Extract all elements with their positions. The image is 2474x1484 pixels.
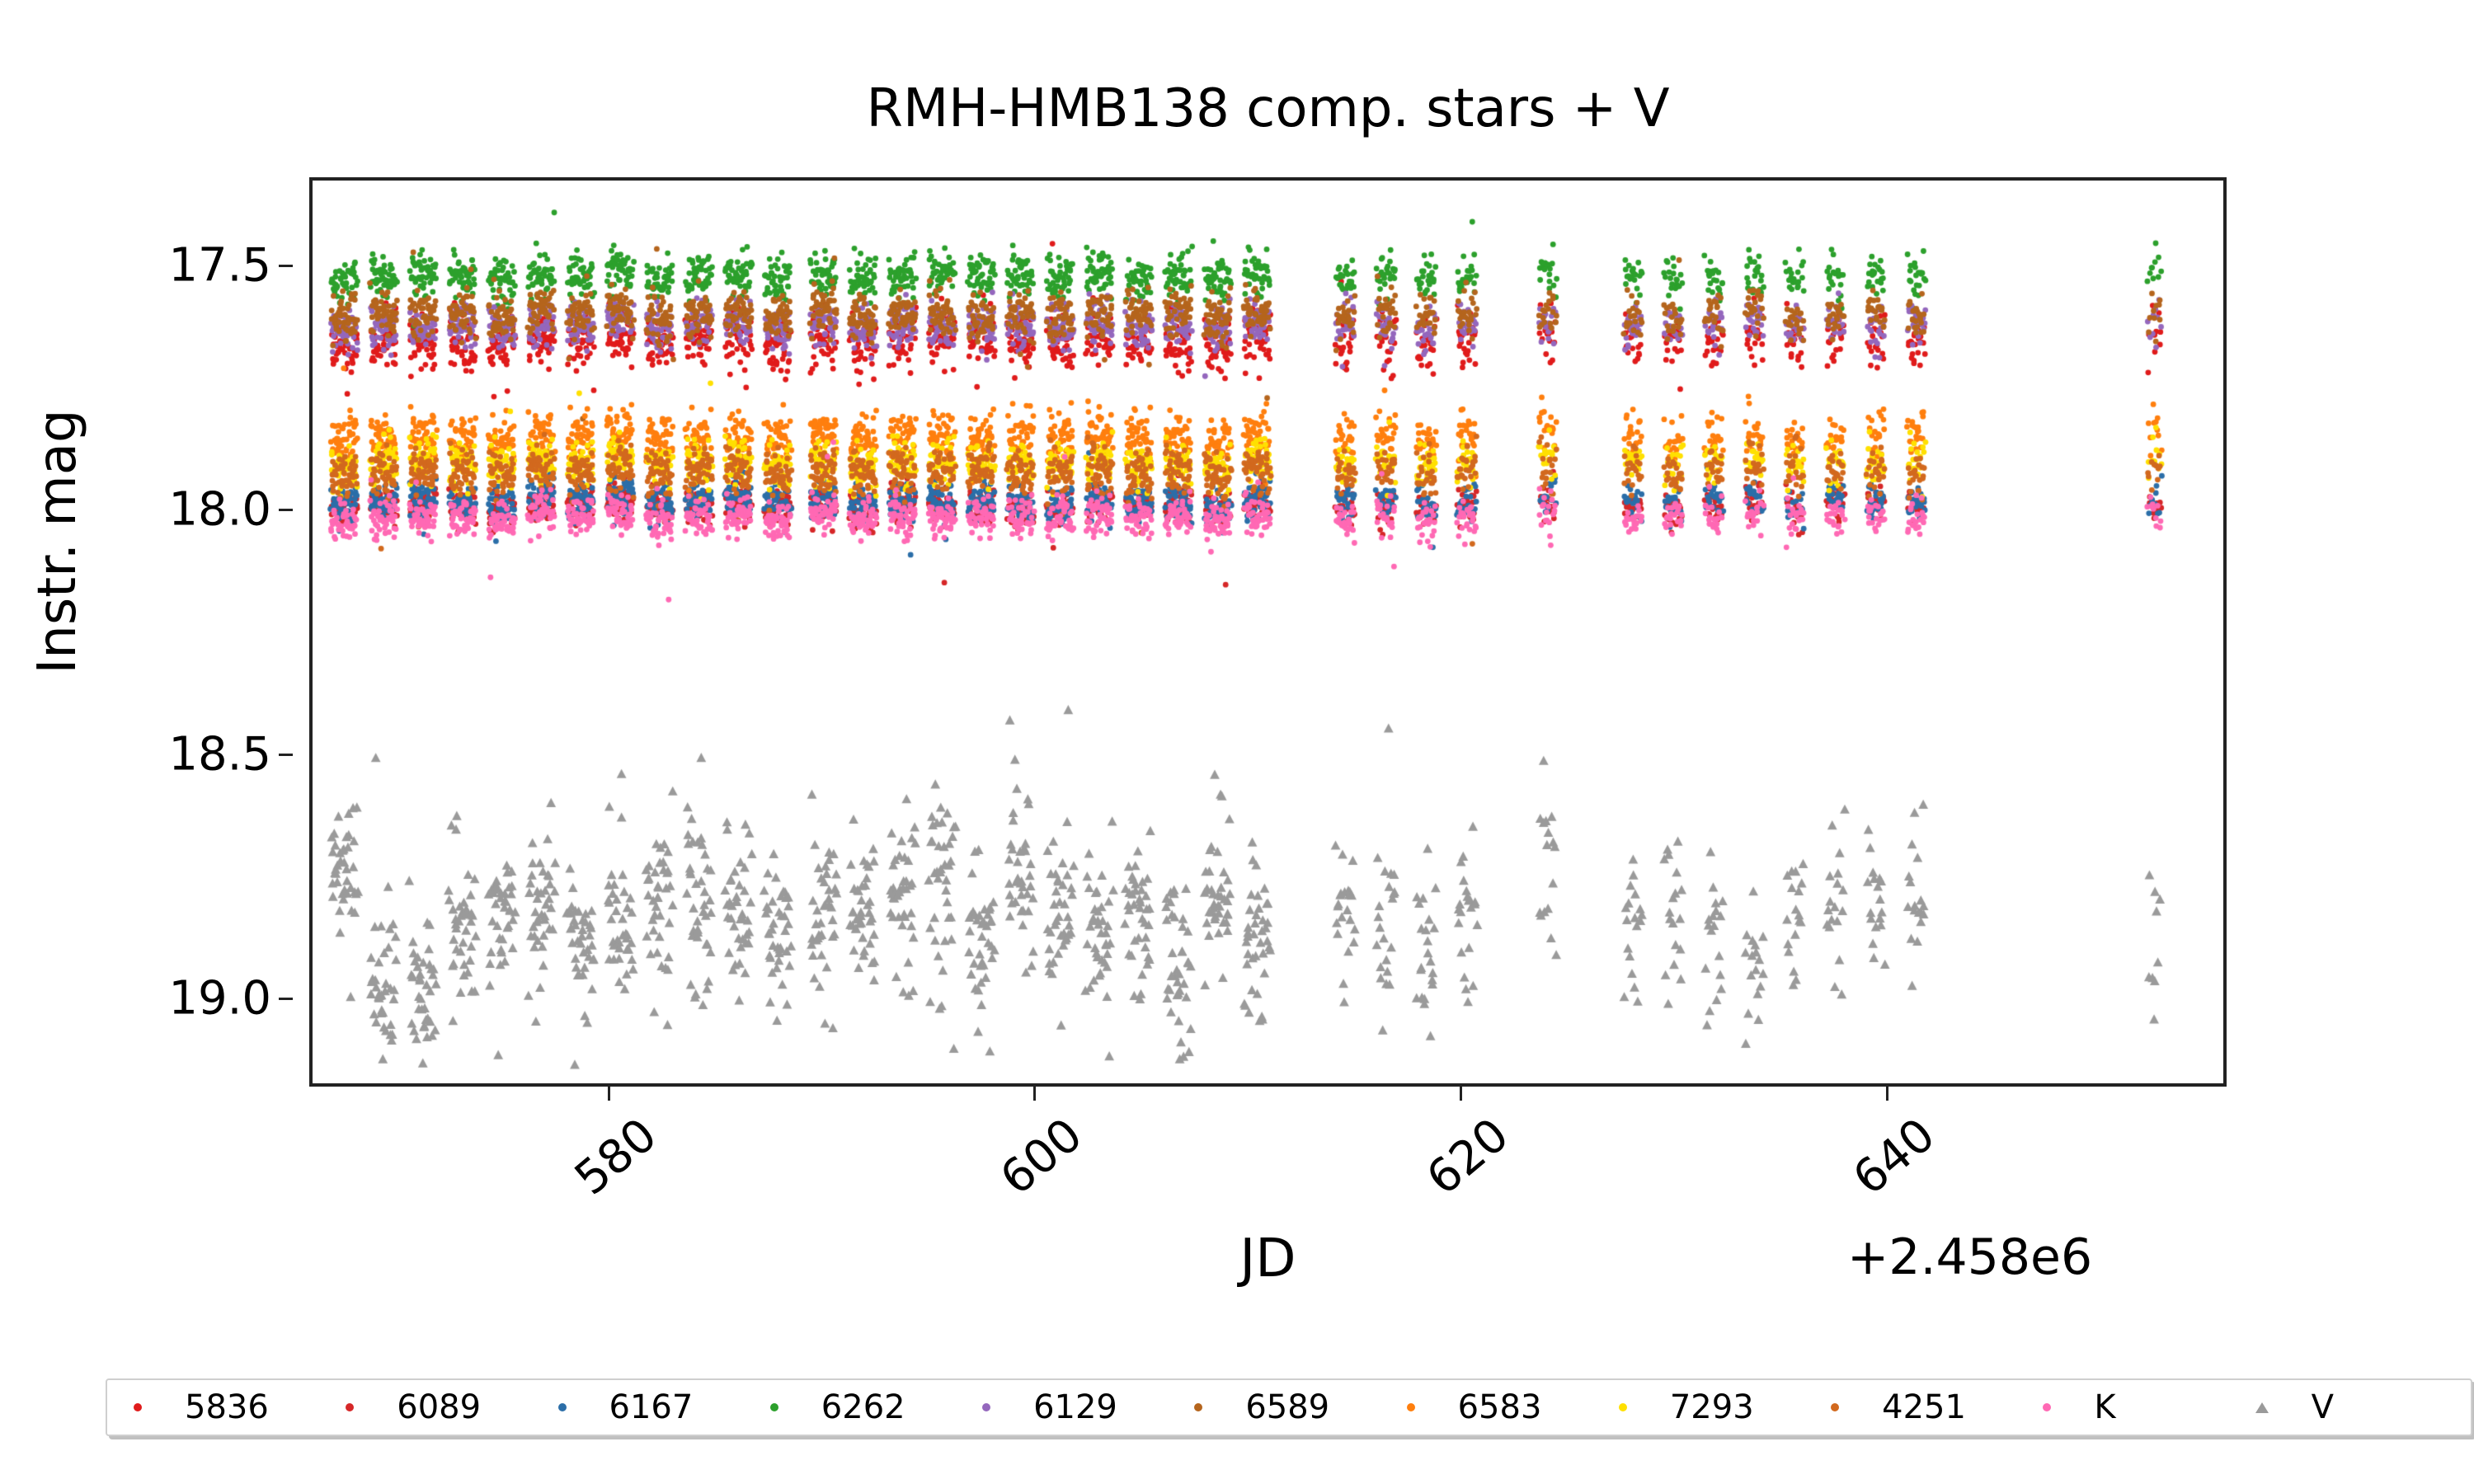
dot-marker-icon — [770, 1403, 778, 1411]
legend-label: 6583 — [1458, 1388, 1542, 1426]
legend-label: K — [2094, 1388, 2115, 1426]
x-tick-label: 580 — [565, 1108, 667, 1206]
legend-label: 6589 — [1245, 1388, 1329, 1426]
legend-entry-6583[interactable]: 6583 — [1395, 1388, 1607, 1426]
dot-marker-icon — [1194, 1403, 1202, 1411]
y-tick-mark — [279, 998, 293, 1000]
dot-marker-icon — [2043, 1403, 2051, 1411]
legend-entry-k[interactable]: K — [2031, 1388, 2243, 1426]
legend-label: 6167 — [609, 1388, 694, 1426]
dot-marker-icon — [1407, 1403, 1415, 1411]
plot-area — [309, 177, 2227, 1087]
legend-label: 4251 — [1882, 1388, 1966, 1426]
triangle-marker-icon — [2255, 1402, 2269, 1413]
legend-entry-4251[interactable]: 4251 — [1819, 1388, 2031, 1426]
legend-label: 6129 — [1033, 1388, 1117, 1426]
y-tick-label: 18.5 — [168, 727, 271, 781]
legend-label: 5836 — [185, 1388, 269, 1426]
x-tick-mark — [1886, 1087, 1888, 1101]
x-tick-label: 620 — [1417, 1108, 1519, 1206]
scatter-data-layer — [313, 181, 2227, 1087]
page-title: RMH-HMB138 comp. stars + V — [309, 82, 2227, 135]
y-tick-mark — [279, 754, 293, 756]
legend-entry-5836[interactable]: 5836 — [122, 1388, 334, 1426]
legend-entry-6129[interactable]: 6129 — [971, 1388, 1183, 1426]
y-tick-label: 19.0 — [168, 972, 271, 1026]
legend-entry-6262[interactable]: 6262 — [759, 1388, 971, 1426]
legend-label: 6089 — [397, 1388, 481, 1426]
legend-entry-6167[interactable]: 6167 — [547, 1388, 759, 1426]
x-tick-mark — [608, 1087, 610, 1101]
x-axis-title: JD — [309, 1228, 2227, 1289]
x-tick-label: 640 — [1843, 1108, 1945, 1206]
legend-entry-6589[interactable]: 6589 — [1183, 1388, 1395, 1426]
dot-marker-icon — [982, 1403, 990, 1411]
legend-entry-7293[interactable]: 7293 — [1607, 1388, 1819, 1426]
dot-marker-icon — [1619, 1403, 1627, 1411]
y-axis-title: Instr. mag — [27, 129, 88, 954]
dot-marker-icon — [134, 1403, 142, 1411]
y-tick-label: 18.0 — [168, 483, 271, 537]
y-tick-mark — [279, 265, 293, 267]
dot-marker-icon — [1831, 1403, 1839, 1411]
legend-entry-v[interactable]: V — [2244, 1388, 2456, 1426]
chart-legend[interactable]: 583660896167626261296589658372934251KV — [106, 1378, 2472, 1436]
x-tick-mark — [1033, 1087, 1036, 1101]
x-tick-label: 600 — [990, 1108, 1093, 1206]
dot-marker-icon — [558, 1403, 567, 1411]
legend-label: 6262 — [821, 1388, 905, 1426]
x-axis-tick-labels: 580600620640 — [309, 1087, 2227, 1252]
legend-label: 7293 — [1670, 1388, 1754, 1426]
legend-entry-6089[interactable]: 6089 — [334, 1388, 546, 1426]
x-tick-mark — [1460, 1087, 1462, 1101]
figure-canvas: RMH-HMB138 comp. stars + V 17.518.018.51… — [0, 0, 2474, 1484]
dot-marker-icon — [346, 1403, 354, 1411]
y-tick-label: 17.5 — [168, 238, 271, 292]
legend-label: V — [2312, 1388, 2334, 1426]
y-tick-mark — [279, 509, 293, 511]
